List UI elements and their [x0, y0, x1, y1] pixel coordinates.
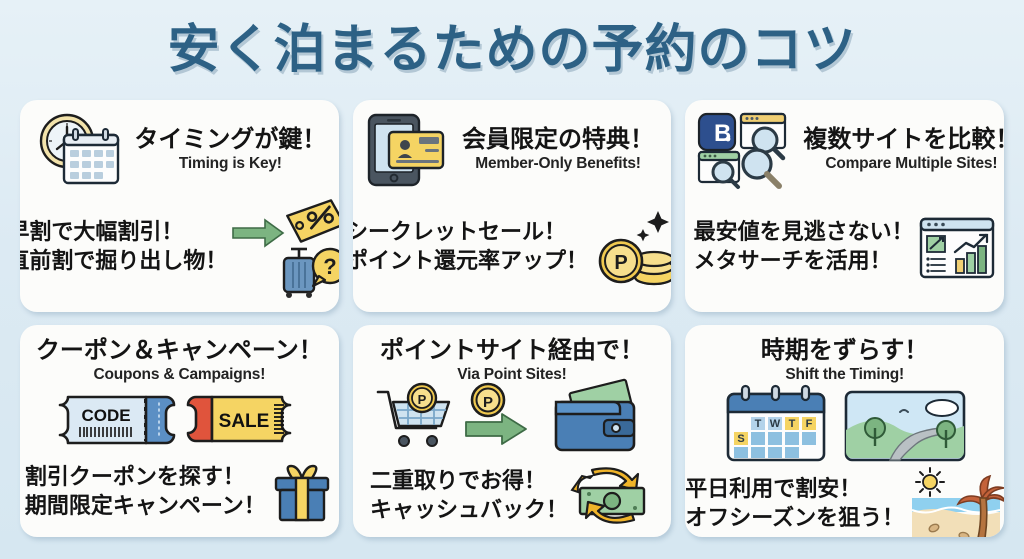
calendar-day-f: F: [805, 418, 812, 430]
card-pointsite-body-line-1: 二重取りでお得！: [370, 469, 568, 496]
membership-card-icon: [389, 132, 443, 168]
card-pointsite-jp-title: ポイントサイト経由で！: [380, 337, 644, 364]
svg-text:P: P: [418, 392, 427, 407]
sparkle-icon: [637, 211, 669, 241]
card-compare-body: 最安値を見逃さない！ メタサーチを活用！: [695, 192, 994, 304]
clock-calendar-icon-group: [30, 110, 126, 190]
beach-icon-group: [908, 464, 1004, 537]
card-pointsite-titles: ポイントサイト経由で！ Via Point Sites!: [380, 337, 644, 384]
card-timing-jp-title: タイミングが鍵！: [134, 126, 326, 153]
tips-grid: タイミングが鍵！ Timing is Key! 早割で大幅割引！ 直前割で掘り出…: [20, 100, 1004, 537]
card-compare-titles: 複数サイトを比較！ Compare Multiple Sites!: [803, 126, 1004, 173]
card-timing-header: タイミングが鍵！ Timing is Key!: [30, 108, 329, 192]
chart-window-icon-group: [918, 215, 996, 281]
card-coupon-tickets: CODE: [30, 384, 329, 456]
card-shift-body-text: 平日利用で割安！ オフシーズンを狙う！: [685, 477, 904, 533]
card-timing-body-line-2: 直前割で掘り出し物！: [20, 249, 227, 276]
calendar-week-icon: T W T F S: [728, 386, 824, 460]
card-coupon-en-title: Coupons & Campaigns!: [93, 365, 265, 384]
magnifier-icon: [743, 150, 779, 186]
page-title-area: 安く泊まるための予約のコツ: [0, 0, 1024, 88]
card-pointsite-header: ポイントサイト経由で！ Via Point Sites!: [363, 333, 662, 384]
card-shift-titles: 時期をずらす！ Shift the Timing!: [761, 337, 929, 384]
sun-icon: [916, 468, 944, 496]
card-pointsite-en-title: Via Point Sites!: [457, 365, 566, 384]
card-timing-titles: タイミングが鍵！ Timing is Key!: [132, 126, 329, 173]
card-timing-body-text: 早割で大幅割引！ 直前割で掘り出し物！: [20, 220, 227, 276]
card-shift-header: 時期をずらす！ Shift the Timing!: [695, 333, 994, 384]
card-timing[interactable]: タイミングが鍵！ Timing is Key! 早割で大幅割引！ 直前割で掘り出…: [20, 100, 339, 312]
card-shift-illustrations: T W T F S: [695, 384, 994, 464]
card-member-jp-title: 会員限定の特典！: [462, 126, 654, 153]
card-coupon-body-line-1: 割引クーポンを探す！: [25, 465, 266, 492]
card-compare-body-line-2: メタサーチを活用！: [694, 249, 914, 276]
point-coin-icon: P: [600, 240, 642, 282]
question-bubble-icon: ?: [313, 249, 338, 286]
chart-window-icon: [921, 219, 993, 277]
card-pointsite-body-line-2: キャッシュバック！: [370, 498, 568, 525]
point-coin-icon: P: [472, 384, 504, 416]
code-ticket-label: CODE: [82, 406, 131, 425]
card-member[interactable]: 会員限定の特典！ Member-Only Benefits! シークレットセール…: [353, 100, 672, 312]
sale-ticket-label: SALE: [219, 411, 270, 432]
arrow-right-icon: [466, 414, 526, 444]
card-member-header: 会員限定の特典！ Member-Only Benefits!: [363, 108, 662, 192]
card-shift-body-line-2: オフシーズンを狙う！: [685, 506, 904, 533]
card-timing-body-line-1: 早割で大幅割引！: [20, 220, 227, 247]
card-compare-header: B: [695, 108, 994, 192]
card-coupon-header: クーポン＆キャンペーン！ Coupons & Campaigns!: [30, 333, 329, 384]
code-ticket-icon: CODE: [60, 397, 174, 443]
page-title: 安く泊まるための予約のコツ: [167, 7, 856, 82]
card-coupon-body-line-2: 期間限定キャンペーン！: [25, 494, 266, 521]
card-member-body-line-1: シークレットセール！: [353, 220, 588, 247]
wallet-icon: [556, 402, 634, 450]
discount-icon-group: ?: [231, 196, 338, 300]
card-coupon-body-text: 割引クーポンを探す！ 期間限定キャンペーン！: [25, 465, 266, 521]
gift-box-icon-group: [270, 462, 334, 524]
card-coupon-titles: クーポン＆キャンペーン！ Coupons & Campaigns!: [36, 337, 323, 384]
calendar-icon: [64, 129, 118, 183]
card-member-en-title: Member-Only Benefits!: [475, 154, 640, 173]
card-shift[interactable]: 時期をずらす！ Shift the Timing! T W: [685, 325, 1004, 537]
calendar-day-t: T: [754, 418, 761, 430]
card-compare-jp-title: 複数サイトを比較！: [803, 126, 1004, 153]
phone-card-icon-group: [363, 110, 449, 190]
card-compare-en-title: Compare Multiple Sites!: [825, 154, 997, 173]
point-coin-icon: P: [408, 384, 436, 412]
cashback-icon-group: [572, 458, 654, 536]
card-pointsite[interactable]: ポイントサイト経由で！ Via Point Sites!: [353, 325, 672, 537]
points-icon-group: P: [592, 205, 671, 291]
card-coupon-jp-title: クーポン＆キャンペーン！: [36, 337, 323, 364]
card-member-body: シークレットセール！ ポイント還元率アップ！: [363, 192, 662, 304]
cashback-icon: [572, 469, 644, 523]
card-pointsite-body: 二重取りでお得！ キャッシュバック！: [363, 458, 662, 536]
arrow-right-icon: [233, 220, 283, 246]
card-pointsite-body-text: 二重取りでお得！ キャッシュバック！: [370, 469, 568, 525]
svg-text:P: P: [614, 252, 627, 274]
card-compare[interactable]: B: [685, 100, 1004, 312]
calendar-day-t2: T: [788, 418, 795, 430]
card-coupon[interactable]: クーポン＆キャンペーン！ Coupons & Campaigns! CODE: [20, 325, 339, 537]
sale-ticket-icon: SALE: [188, 397, 290, 441]
card-shift-body: 平日利用で割安！ オフシーズンを狙う！: [695, 464, 994, 537]
card-shift-jp-title: 時期をずらす！: [761, 337, 929, 364]
card-shift-en-title: Shift the Timing!: [785, 365, 904, 384]
card-member-body-text: シークレットセール！ ポイント還元率アップ！: [353, 220, 588, 276]
svg-text:?: ?: [324, 254, 337, 279]
svg-text:B: B: [714, 120, 731, 147]
card-pointsite-flow: P P: [363, 384, 662, 458]
calendar-day-s: S: [737, 433, 744, 445]
card-compare-body-text: 最安値を見逃さない！ メタサーチを活用！: [694, 220, 914, 276]
card-shift-body-line-1: 平日利用で割安！: [685, 477, 904, 504]
card-compare-body-line-1: 最安値を見逃さない！: [694, 220, 914, 247]
card-member-titles: 会員限定の特典！ Member-Only Benefits!: [455, 126, 662, 173]
calendar-day-w: W: [769, 418, 780, 430]
percent-tag-icon: [286, 199, 338, 243]
card-timing-en-title: Timing is Key!: [179, 154, 282, 173]
card-member-body-line-2: ポイント還元率アップ！: [353, 249, 588, 276]
card-timing-body: 早割で大幅割引！ 直前割で掘り出し物！: [30, 192, 329, 304]
landscape-icon: [846, 392, 964, 460]
suitcase-icon: [284, 249, 314, 298]
infographic-page: 安く泊まるための予約のコツ: [0, 0, 1024, 559]
gift-box-icon: [276, 466, 328, 520]
booking-badge-icon: B: [699, 114, 735, 150]
svg-text:P: P: [483, 394, 493, 411]
card-coupon-body: 割引クーポンを探す！ 期間限定キャンペーン！: [30, 457, 329, 529]
sites-search-icon-group: B: [695, 108, 797, 192]
